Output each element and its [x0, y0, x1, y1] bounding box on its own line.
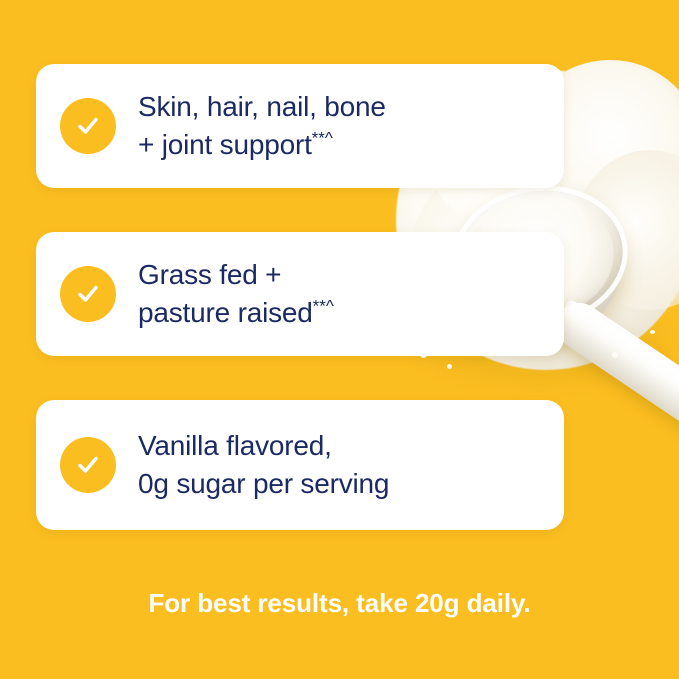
benefit-text: Grass fed + pasture raised**^ — [138, 256, 334, 333]
benefit-line-1: Vanilla flavored, — [138, 427, 389, 465]
check-icon — [60, 437, 116, 493]
product-feature-image: Skin, hair, nail, bone + joint support**… — [0, 0, 679, 679]
check-icon — [60, 98, 116, 154]
benefit-card: Grass fed + pasture raised**^ — [36, 232, 564, 356]
benefit-line-2: + joint support**^ — [138, 126, 386, 164]
benefit-superscript: **^ — [312, 129, 333, 148]
benefit-superscript: **^ — [313, 297, 334, 316]
benefit-line-1: Skin, hair, nail, bone — [138, 88, 386, 126]
benefit-line-1: Grass fed + — [138, 256, 334, 294]
benefit-card: Skin, hair, nail, bone + joint support**… — [36, 64, 564, 188]
benefit-line-2: pasture raised**^ — [138, 294, 334, 332]
benefit-text: Vanilla flavored, 0g sugar per serving — [138, 427, 389, 504]
benefit-line-2: 0g sugar per serving — [138, 465, 389, 503]
benefit-text: Skin, hair, nail, bone + joint support**… — [138, 88, 386, 165]
benefit-card: Vanilla flavored, 0g sugar per serving — [36, 400, 564, 530]
footer-tagline: For best results, take 20g daily. — [0, 588, 679, 619]
benefit-card-list: Skin, hair, nail, bone + joint support**… — [0, 0, 679, 679]
check-icon — [60, 266, 116, 322]
